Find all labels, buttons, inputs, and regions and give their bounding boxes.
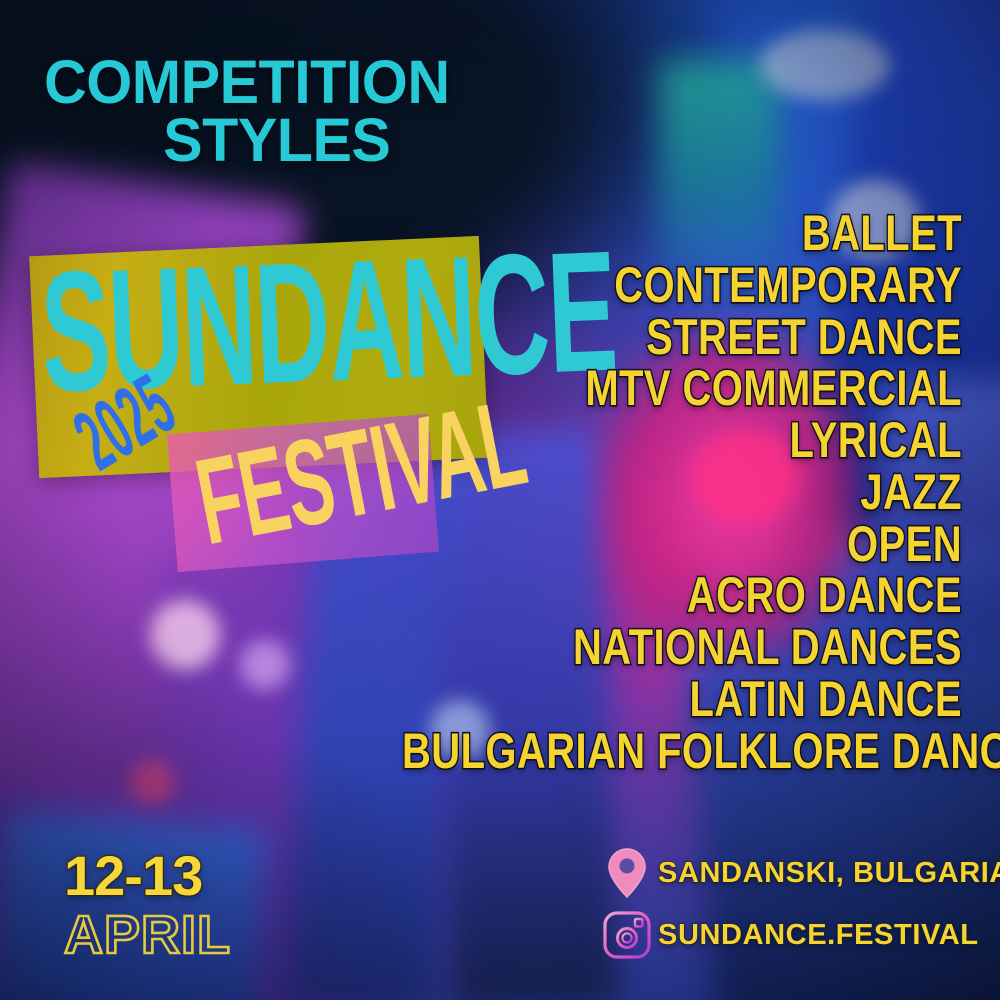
style-item: ACRO DANCE	[402, 570, 962, 622]
event-date-days: 12-13	[64, 848, 231, 904]
instagram-icon[interactable]	[596, 910, 658, 960]
style-item: BULGARIAN FOLKLORE DANCE	[402, 726, 962, 778]
event-dates: 12-13 APRIL	[64, 848, 231, 962]
event-date-month: APRIL	[64, 908, 231, 962]
location-pin-icon	[596, 847, 658, 899]
style-item: MTV COMMERCIAL	[402, 363, 962, 415]
style-item: JAZZ	[402, 467, 962, 519]
footer-info: SANDANSKI, BULGARIA	[596, 842, 1000, 966]
instagram-row[interactable]: SUNDANCE.FESTIVAL	[596, 904, 1000, 966]
location-text: SANDANSKI, BULGARIA	[658, 857, 1000, 890]
style-item: LYRICAL	[402, 415, 962, 467]
style-item: STREET DANCE	[402, 312, 962, 364]
festival-poster: COMPETITION STYLES SUNDANCE 2025 FESTIVA…	[0, 0, 1000, 1000]
style-item: LATIN DANCE	[402, 674, 962, 726]
competition-styles-list: BALLET CONTEMPORARY STREET DANCE MTV COM…	[262, 208, 962, 777]
location-row: SANDANSKI, BULGARIA	[596, 842, 1000, 904]
style-item: NATIONAL DANCES	[402, 622, 962, 674]
style-item: CONTEMPORARY	[402, 260, 962, 312]
instagram-handle-text: SUNDANCE.FESTIVAL	[658, 919, 979, 952]
style-item: OPEN	[402, 519, 962, 571]
style-item: BALLET	[402, 208, 962, 260]
